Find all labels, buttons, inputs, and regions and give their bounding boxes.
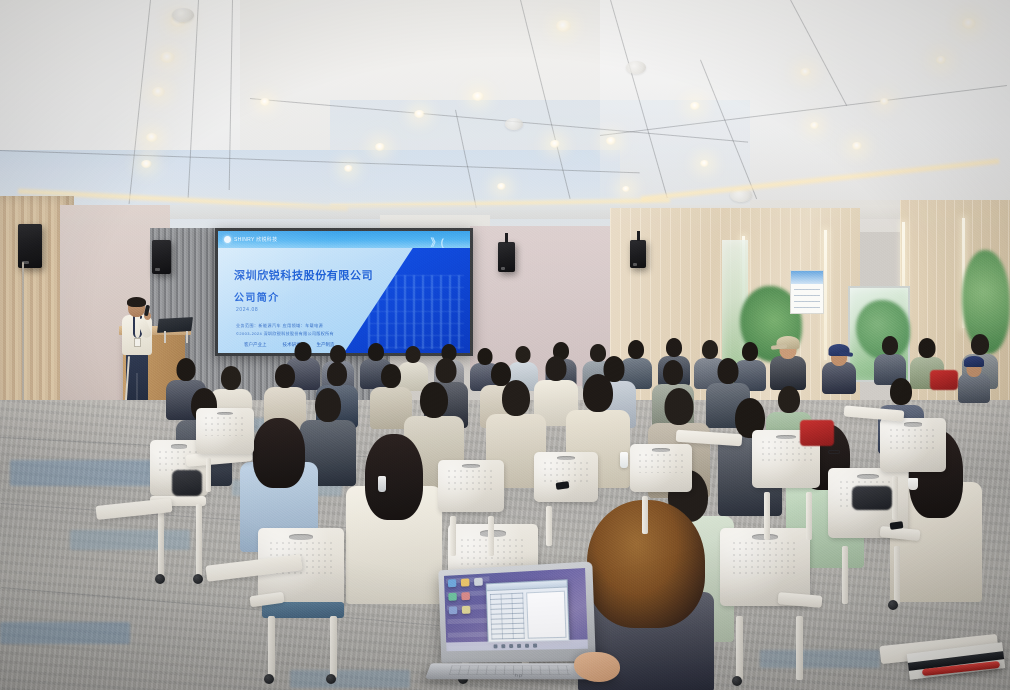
person-head — [315, 388, 341, 422]
person-head — [295, 342, 312, 361]
slide-subtitle: 公司简介 — [234, 289, 280, 304]
slide-footnote-copyright: ©2003-2024 深圳欣锐科技股份有限公司版权所有 — [236, 331, 334, 337]
person-head — [420, 382, 448, 418]
slide-date: 2024.08 — [236, 307, 258, 313]
wall-speaker — [630, 240, 646, 268]
training-chair — [258, 528, 350, 690]
person-head — [221, 366, 241, 390]
chair-leg — [736, 616, 743, 680]
training-chair — [720, 528, 816, 690]
backpack — [852, 486, 892, 510]
taskbar[interactable] — [446, 639, 588, 651]
presenter — [116, 298, 160, 416]
chair-backrest — [630, 444, 692, 492]
slide-technical-artwork — [368, 275, 464, 349]
chair-leg — [196, 504, 202, 578]
person-long-hair — [253, 418, 305, 488]
audience-member-with-cap — [958, 356, 990, 402]
chair-backrest — [880, 418, 946, 472]
slide-logo-text: SHINRY 欣锐科技 — [234, 236, 277, 243]
laptop-stand-leg — [186, 331, 188, 343]
person-head — [436, 358, 457, 383]
person-head — [702, 340, 718, 359]
window-detail-pane[interactable] — [526, 591, 566, 639]
person-head — [583, 374, 613, 412]
wall-speaker — [152, 240, 171, 274]
taskbar-item[interactable] — [524, 643, 528, 647]
chair-leg — [546, 506, 552, 546]
slide-blue-triangle — [340, 248, 470, 353]
slide-footnote-primary: 业务范围：新能源汽车 应用领域：车载电源 — [236, 323, 323, 329]
taskbar-item[interactable] — [509, 644, 513, 648]
wall-speaker — [498, 242, 515, 272]
taskbar-item[interactable] — [501, 644, 505, 648]
training-chair — [630, 444, 696, 534]
chair-leg — [764, 492, 770, 540]
water-bottle — [378, 476, 386, 492]
desktop-icon[interactable] — [449, 606, 458, 614]
person-long-hair — [365, 434, 423, 520]
chair-leg — [806, 492, 812, 540]
slide-nav-item: 客户产业上 — [244, 342, 267, 348]
chair-backrest — [438, 460, 504, 512]
training-chair — [438, 460, 508, 556]
person-head — [919, 338, 936, 358]
company-logo-icon — [224, 236, 231, 243]
chair-perforations — [203, 415, 247, 435]
laptop-screen[interactable] — [444, 568, 588, 651]
window-title-bar[interactable] — [487, 580, 567, 591]
laptop-lid — [438, 561, 596, 663]
chair-backrest — [534, 452, 598, 502]
speaker-bracket — [505, 233, 508, 243]
carpet-tile-accent — [10, 460, 160, 486]
red-bag — [800, 420, 834, 446]
person-head — [666, 338, 682, 357]
audience-member-long-hair — [346, 434, 442, 600]
poster-header-band — [791, 271, 823, 284]
taskbar-item[interactable] — [517, 643, 521, 647]
poster-text-lines — [794, 289, 821, 310]
chair-perforations — [542, 460, 591, 482]
person-head — [718, 358, 739, 384]
chair-caster — [193, 574, 203, 584]
desktop-icon[interactable] — [474, 578, 483, 586]
chair-leg — [892, 476, 898, 520]
carpet-tile-accent — [0, 622, 130, 644]
window-list-pane[interactable] — [490, 593, 525, 640]
person-head — [381, 364, 401, 388]
chair-perforations — [446, 468, 496, 491]
conference-room-photo: SHINRY 欣锐科技 》( 深圳欣锐科技股份有限公司 公司简介 2024.08… — [0, 0, 1010, 690]
audience-member-with-cap — [822, 344, 856, 394]
training-chair — [880, 418, 950, 528]
person-head — [663, 360, 683, 385]
person-torso — [958, 373, 990, 403]
presenter-id-badge — [134, 338, 141, 347]
person-head — [890, 378, 912, 405]
person-head — [971, 334, 989, 355]
taskbar-item[interactable] — [532, 643, 536, 647]
laptop-brand-logo: hp — [515, 674, 524, 678]
chair-leg — [206, 458, 211, 492]
chair-leg — [894, 546, 900, 604]
person-head — [502, 380, 530, 416]
chair-caster — [155, 574, 165, 584]
desktop-icon[interactable] — [461, 578, 470, 586]
taskbar-item[interactable] — [493, 644, 497, 648]
wall-poster — [790, 270, 824, 314]
slide-corner-mark: 》( — [431, 234, 444, 249]
chair-leg — [450, 516, 456, 556]
chair-leg — [158, 504, 164, 578]
speaker-bracket — [637, 231, 640, 241]
training-chair — [196, 408, 258, 492]
chair-perforations — [888, 427, 938, 451]
desktop-icon[interactable] — [448, 593, 457, 601]
person-head — [406, 346, 421, 363]
chair-caster — [264, 674, 274, 684]
desktop-icon[interactable] — [448, 579, 457, 587]
person-head — [368, 343, 384, 361]
person-head — [882, 336, 898, 355]
person-head — [177, 358, 196, 381]
person-head — [330, 345, 346, 363]
person-head — [516, 346, 531, 363]
projection-screen: SHINRY 欣锐科技 》( 深圳欣锐科技股份有限公司 公司简介 2024.08… — [215, 228, 473, 356]
laptop-stand-leg — [164, 331, 166, 343]
chair-leg — [330, 616, 337, 678]
chair-backrest — [196, 408, 254, 454]
person-torso — [770, 356, 806, 390]
desktop-icon[interactable] — [462, 606, 471, 614]
navy-cap-icon — [964, 356, 984, 367]
chair-leg — [842, 546, 848, 604]
foreground-laptop[interactable]: hp — [436, 566, 614, 690]
audience-member — [874, 336, 906, 384]
backpack — [172, 470, 202, 496]
chair-perforations — [637, 452, 684, 473]
slide-title: 深圳欣锐科技股份有限公司 — [234, 267, 373, 283]
chair-leg — [796, 616, 803, 680]
file-explorer-window[interactable] — [486, 579, 570, 642]
chair-leg — [268, 616, 275, 678]
presentation-slide: SHINRY 欣锐科技 》( 深圳欣锐科技股份有限公司 公司简介 2024.08… — [218, 231, 470, 353]
person-torso — [822, 362, 856, 394]
red-bag — [930, 370, 958, 390]
chair-leg — [488, 516, 494, 556]
chair-caster — [732, 676, 742, 686]
chair-leg — [642, 496, 648, 534]
chair-caster — [326, 674, 336, 684]
audience-member-with-cap — [770, 336, 806, 390]
person-head — [665, 388, 694, 425]
presenter-hair — [127, 297, 146, 307]
person-head — [327, 362, 347, 386]
paper-cup — [908, 478, 918, 490]
glasses-icon — [828, 450, 840, 454]
led-strip-icon — [824, 230, 827, 360]
desktop-icon[interactable] — [461, 592, 470, 600]
person-head — [546, 356, 567, 381]
chair-caster — [888, 600, 898, 610]
person-head — [275, 364, 295, 388]
laptop-keyboard[interactable] — [449, 666, 571, 675]
training-chair — [752, 430, 824, 550]
water-bottle — [620, 452, 628, 468]
ceiling — [0, 0, 1010, 232]
training-chair — [534, 452, 602, 546]
